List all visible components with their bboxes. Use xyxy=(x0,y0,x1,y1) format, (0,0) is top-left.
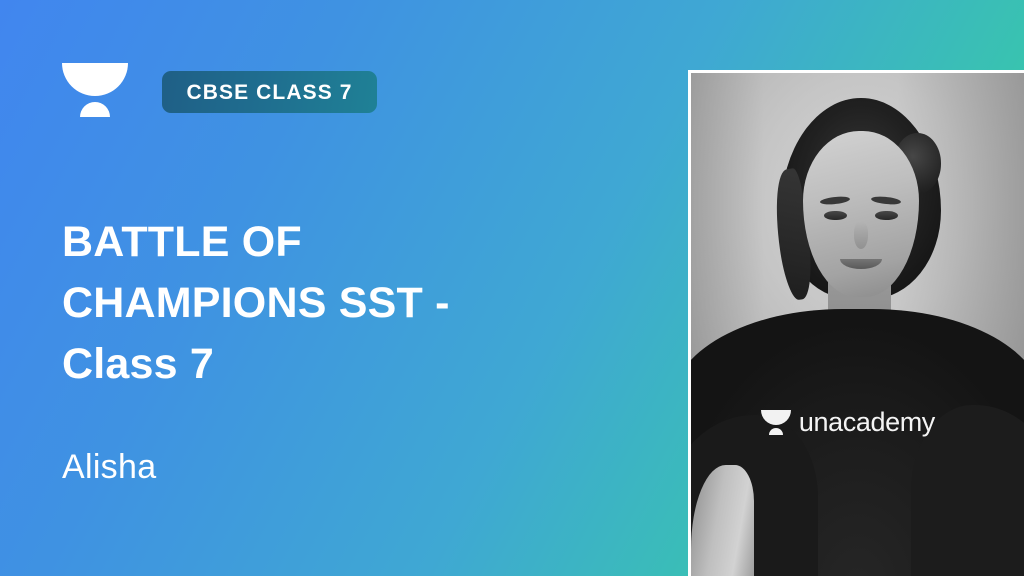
class-badge: CBSE CLASS 7 xyxy=(162,71,377,113)
educator-name: Alisha xyxy=(62,447,156,488)
tshirt-bowl-base-shape xyxy=(769,428,783,435)
course-title-line-3: Class 7 xyxy=(62,334,582,395)
eye-right-shape xyxy=(875,211,898,221)
tshirt-wordmark: unacademy xyxy=(799,409,935,436)
educator-photo-image: unacademy xyxy=(691,73,1024,576)
tshirt-bowl-top-shape xyxy=(761,410,791,425)
bowl-base-shape xyxy=(80,102,110,117)
course-title-line-2: CHAMPIONS SST - xyxy=(62,273,582,334)
tshirt-unacademy-logo: unacademy xyxy=(761,408,935,438)
educator-photo: unacademy xyxy=(688,70,1024,576)
nose-shape xyxy=(854,222,868,249)
mouth-shape xyxy=(840,259,882,269)
class-badge-label: CBSE CLASS 7 xyxy=(186,82,352,103)
bowl-top-shape xyxy=(62,63,128,96)
tshirt-bowl-icon xyxy=(761,408,791,438)
eyebrow-left-shape xyxy=(820,196,851,207)
course-title-line-1: BATTLE OF xyxy=(62,212,582,273)
unacademy-bowl-logo xyxy=(62,58,128,124)
course-promo-card: CBSE CLASS 7 BATTLE OF CHAMPIONS SST - C… xyxy=(0,0,1024,576)
eyebrow-right-shape xyxy=(871,196,902,207)
course-title: BATTLE OF CHAMPIONS SST - Class 7 xyxy=(62,212,582,395)
eye-left-shape xyxy=(824,211,847,221)
